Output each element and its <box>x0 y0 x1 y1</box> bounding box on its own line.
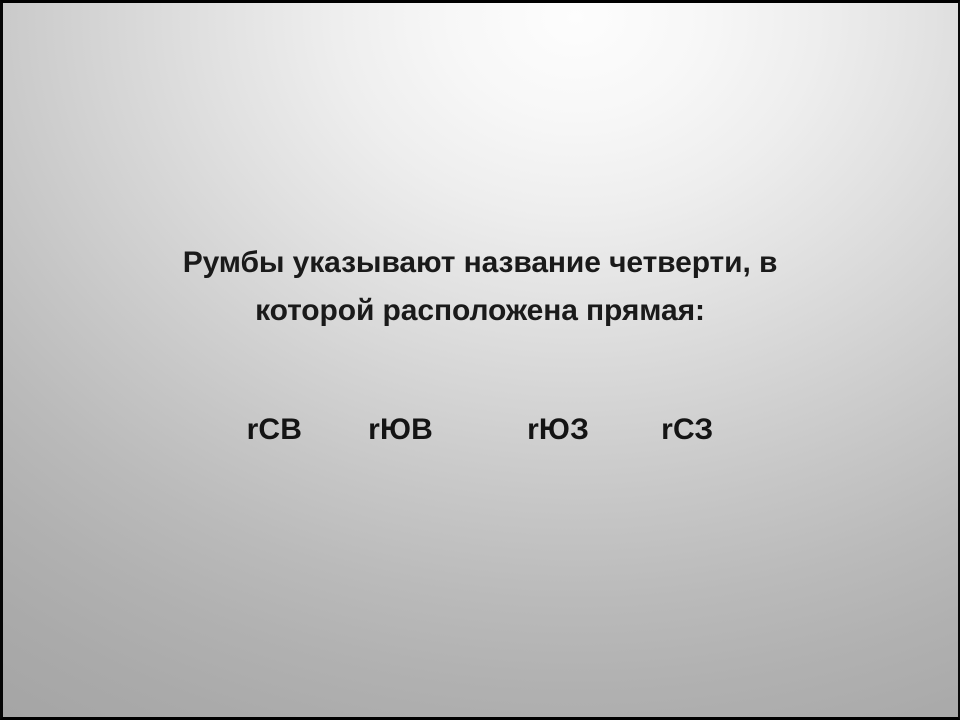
bearing-label-north-east: rСВ <box>247 413 303 447</box>
slide-heading: Румбы указывают название четверти, в кот… <box>95 239 865 335</box>
bearing-label-south-west: rЮЗ <box>527 413 589 447</box>
slide-content: Румбы указывают название четверти, в кот… <box>3 3 958 717</box>
presentation-slide: Румбы указывают название четверти, в кот… <box>0 0 960 720</box>
bearing-label-north-west: rСЗ <box>661 413 713 447</box>
bearings-row: rСВ rЮВ rЮЗ rСЗ <box>95 413 865 447</box>
bearing-label-south-east: rЮВ <box>368 413 433 447</box>
